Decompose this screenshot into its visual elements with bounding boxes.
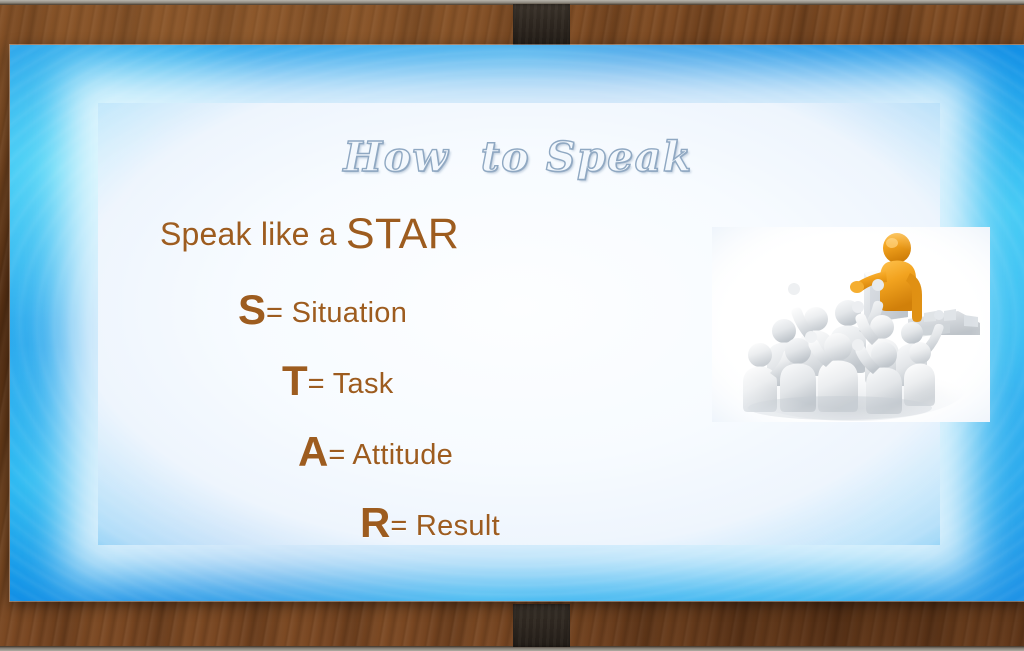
star-letter-t: T	[282, 357, 308, 404]
screen-mount-block-top	[513, 4, 570, 46]
slide-content: How to Speak Speak like a STAR S= Situat…	[10, 45, 1024, 601]
powerpoint-slide: How to Speak Speak like a STAR S= Situat…	[10, 45, 1024, 601]
presentation-screenshot: How to Speak Speak like a STAR S= Situat…	[0, 0, 1024, 651]
star-row-attitude: A= Attitude	[298, 431, 453, 473]
lead-emphasis-star: STAR	[346, 210, 460, 258]
clipart-illustration	[712, 227, 990, 422]
star-definition-s: = Situation	[266, 297, 407, 329]
bottom-edge-strip	[0, 646, 1024, 651]
screen-mount-block-bottom	[513, 604, 570, 647]
clipart-speaker-at-podium	[712, 227, 990, 422]
star-letter-r: R	[360, 499, 390, 546]
star-definition-t: = Task	[308, 368, 394, 400]
lead-line: Speak like a STAR	[160, 213, 459, 256]
star-letter-a: A	[298, 428, 328, 475]
star-definition-r: = Result	[390, 510, 500, 542]
star-definition-a: = Attitude	[328, 439, 453, 471]
top-edge-strip	[0, 0, 1024, 5]
star-row-situation: S= Situation	[238, 289, 407, 331]
lead-prefix: Speak like a	[160, 216, 346, 252]
star-letter-s: S	[238, 286, 266, 333]
star-row-task: T= Task	[282, 360, 394, 402]
slide-title: How to Speak	[10, 133, 1024, 181]
star-row-result: R= Result	[360, 502, 500, 544]
